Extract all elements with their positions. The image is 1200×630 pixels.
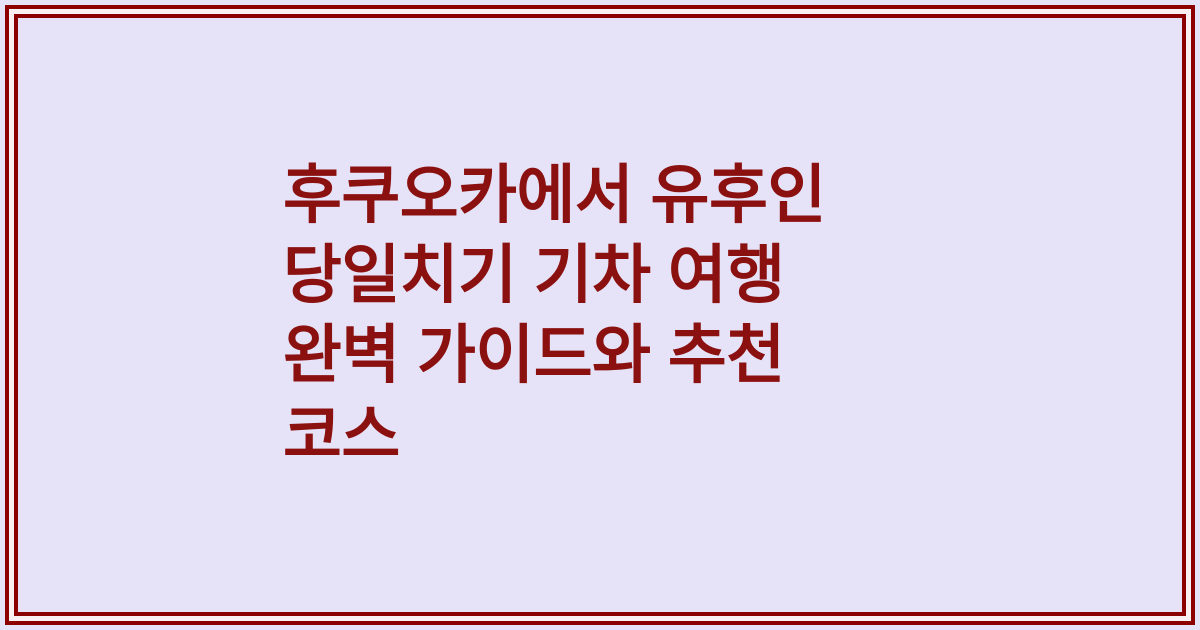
page-title: 후쿠오카에서 유후인 당일치기 기차 여행 완벽 가이드와 추천 코스 [283, 155, 1142, 475]
decorative-outer-border: 후쿠오카에서 유후인 당일치기 기차 여행 완벽 가이드와 추천 코스 [5, 5, 1195, 625]
title-block: 후쿠오카에서 유후인 당일치기 기차 여행 완벽 가이드와 추천 코스 [18, 155, 1182, 475]
decorative-inner-border: 후쿠오카에서 유후인 당일치기 기차 여행 완벽 가이드와 추천 코스 [14, 14, 1186, 616]
og-image-card: 후쿠오카에서 유후인 당일치기 기차 여행 완벽 가이드와 추천 코스 [0, 0, 1200, 630]
